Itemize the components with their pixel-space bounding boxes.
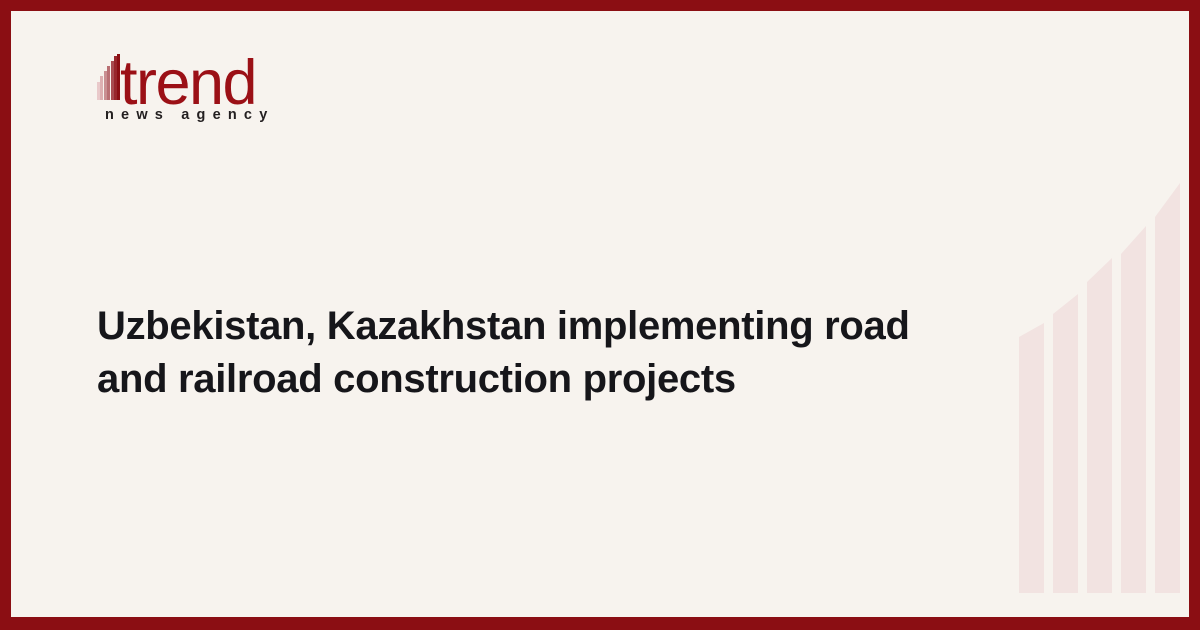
- decorative-bar-graphic: [1013, 11, 1183, 617]
- logo-wordmark-row: trend: [97, 44, 357, 102]
- decor-bar: [1053, 294, 1078, 593]
- logo-tagline: news agency: [105, 107, 274, 123]
- trend-logo[interactable]: trend news agency: [97, 44, 357, 102]
- decor-bar: [1155, 183, 1180, 593]
- social-share-card: trend news agency Uzbekistan, Kazakhstan…: [0, 0, 1200, 630]
- card-canvas: trend news agency Uzbekistan, Kazakhstan…: [11, 11, 1189, 617]
- decor-bar: [1019, 323, 1044, 593]
- logo-wordmark: trend: [120, 52, 256, 115]
- article-headline: Uzbekistan, Kazakhstan implementing road…: [97, 300, 977, 407]
- decor-bar: [1087, 258, 1112, 593]
- decor-bar: [1121, 226, 1146, 593]
